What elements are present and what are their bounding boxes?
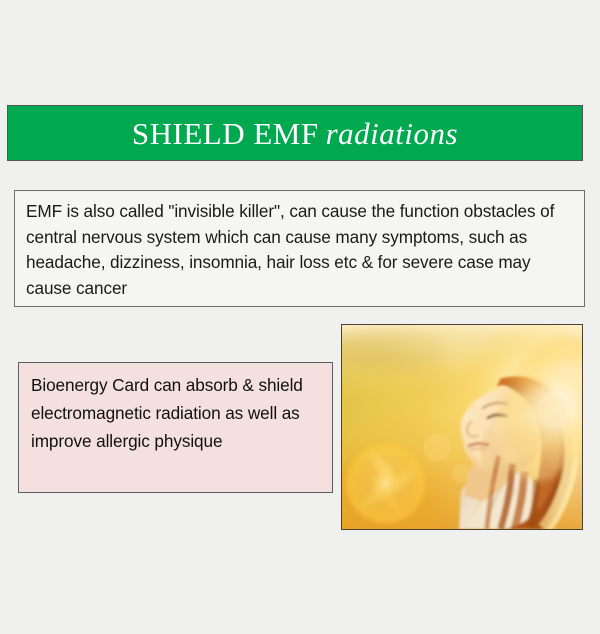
emf-info-text: EMF is also called "invisible killer", c…: [26, 199, 574, 301]
page-title: SHIELD EMFradiations: [132, 118, 458, 149]
emf-info-box: EMF is also called "invisible killer", c…: [14, 190, 585, 307]
page-title-italic: radiations: [326, 116, 458, 151]
slide-canvas: SHIELD EMFradiations EMF is also called …: [0, 0, 600, 634]
sunlight-portrait-photo: [342, 325, 582, 529]
title-banner: SHIELD EMFradiations: [7, 105, 583, 161]
bioenergy-card-text: Bioenergy Card can absorb & shield elect…: [31, 371, 322, 455]
sunlight-portrait-photo-frame: [341, 324, 583, 530]
bioenergy-card-callout-box: Bioenergy Card can absorb & shield elect…: [18, 362, 333, 493]
page-title-plain: SHIELD EMF: [132, 116, 319, 151]
